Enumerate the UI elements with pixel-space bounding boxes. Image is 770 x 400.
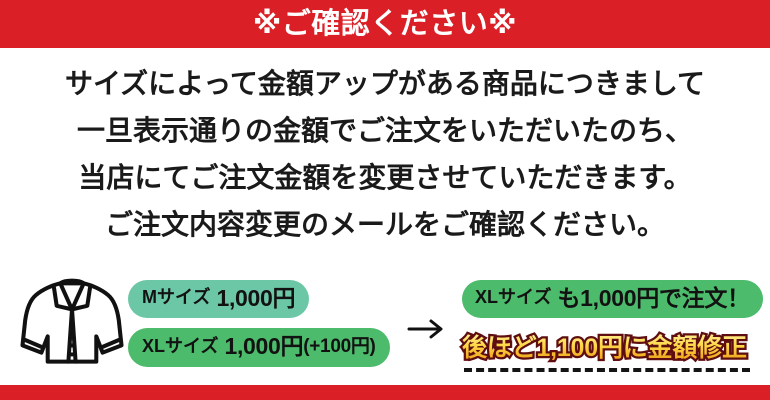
dashed-underline	[464, 368, 750, 372]
price-comparison-row: Mサイズ 1,000円 XLサイズ 1,000円 (+100円) XLサイズ	[0, 262, 770, 384]
badge-size-m-label: Mサイズ	[142, 286, 210, 310]
badge-size-xl-surcharge: (+100円)	[303, 334, 375, 359]
badge-size-xl: XLサイズ 1,000円 (+100円)	[128, 328, 390, 366]
after-price-column: XLサイズ も 1,000円で注文！ 後ほど1,100円に金額修正 後ほど1,1…	[462, 280, 762, 369]
message-line-1: サイズによって金額アップがある商品につきまして	[0, 60, 770, 107]
message-line-3: 当店にてご注文金額を変更させていただきます。	[0, 154, 770, 201]
message-line-4: ご注文内容変更のメールをご確認ください。	[0, 201, 770, 248]
dress-shirt-icon	[18, 268, 126, 376]
header-bar: ※ご確認ください※	[0, 0, 770, 48]
message-line-2: 一旦表示通りの金額でご注文をいただいたのち、	[0, 107, 770, 154]
badge-size-xl-after-prefix: も	[557, 283, 580, 313]
notice-banner: ※ご確認ください※ サイズによって金額アップがある商品につきまして 一旦表示通り…	[0, 0, 770, 400]
before-price-badges: Mサイズ 1,000円 XLサイズ 1,000円 (+100円)	[128, 280, 390, 367]
badge-size-xl-label: XLサイズ	[142, 335, 218, 359]
price-correction-note-text: 後ほど1,100円に金額修正	[462, 329, 750, 367]
badge-size-xl-after-label: XLサイズ	[475, 286, 551, 310]
badge-size-xl-after-price: 1,000円で注文！	[580, 283, 750, 313]
arrow-right-icon	[404, 314, 450, 344]
badge-size-xl-price: 1,000円	[224, 331, 303, 361]
badge-size-xl-after: XLサイズ も 1,000円で注文！	[462, 280, 763, 318]
message-block: サイズによって金額アップがある商品につきまして 一旦表示通りの金額でご注文をいた…	[0, 60, 770, 248]
price-correction-note: 後ほど1,100円に金額修正 後ほど1,100円に金額修正	[462, 329, 750, 369]
badge-size-m-price: 1,000円	[216, 283, 295, 313]
footer-bar	[0, 385, 770, 400]
page-title: ※ご確認ください※	[253, 10, 517, 39]
badge-size-m: Mサイズ 1,000円	[128, 280, 309, 318]
